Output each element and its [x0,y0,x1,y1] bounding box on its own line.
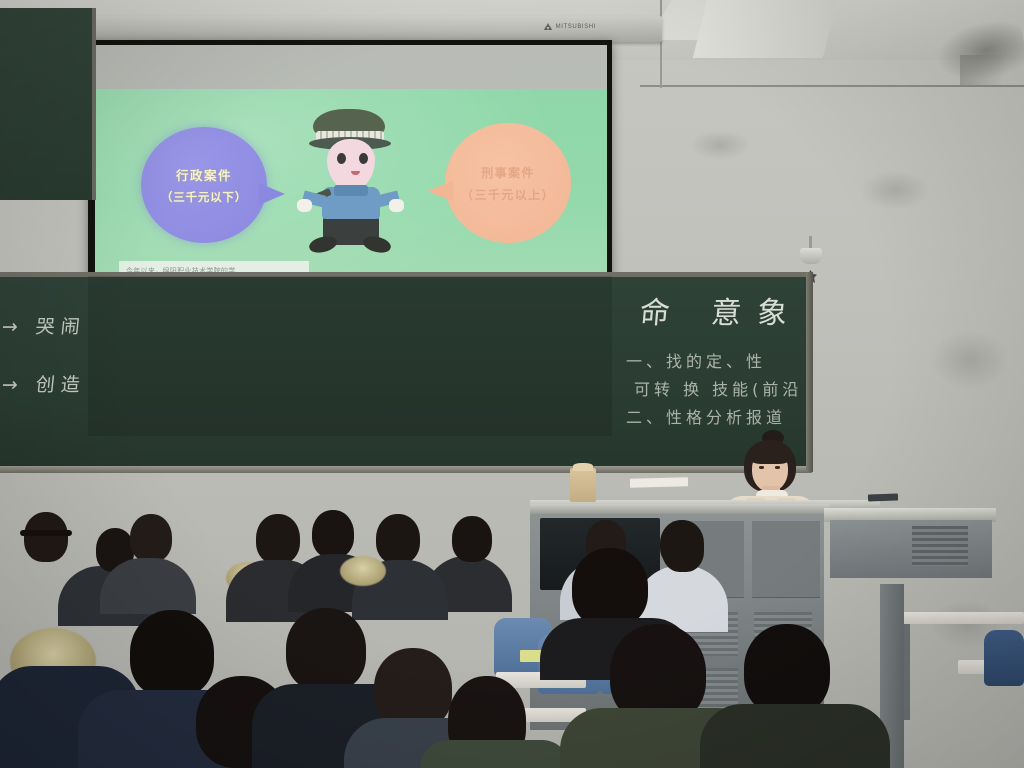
student-body-front [420,740,570,768]
student-head [660,520,704,568]
classroom-scene: 12 3 6 9 MITSUBISHI 行政案件 （三千元以下） [0,0,1024,768]
bubble-orange-line1: 刑事案件 [481,164,535,181]
wall-smudge [860,170,930,210]
wall-crack-secondary [960,55,1024,85]
student-head [256,514,300,564]
blackboard-frame-bottom [0,466,812,473]
empty-chair [984,630,1024,686]
chalk-left-line1: → 哭闹 [1,312,88,339]
mitsubishi-logo: MITSUBISHI [545,23,596,30]
bubble-orange-line2: （三千元以上） [461,186,555,203]
wall-smudge [690,130,750,160]
bubble-blue-line1: 行政案件 [176,165,232,184]
podium-panel [752,520,820,598]
student-head-front [286,608,366,692]
chalk-right-line2: 可转 换 技能(前沿 [634,376,802,400]
glasses-icon [20,530,72,536]
blackboard-shadow [88,276,612,436]
chalk-left-line2: → 创造 [1,370,88,397]
student-head [312,510,354,558]
bubble-tail-orange [427,181,453,201]
paper-bag[interactable] [570,468,596,502]
empty-desk [898,612,1024,624]
ceiling-beam [693,0,837,58]
student-head [24,512,68,562]
chalk-right-title: 命 意象 [638,288,805,332]
student-head [376,514,420,564]
chalk-right-line1: 一、找的定、性 [626,348,766,372]
fur-hood [340,556,386,586]
desk-object[interactable] [868,493,898,501]
wall-smudge [930,330,1010,390]
student-head [130,514,172,562]
student-head-front [744,624,830,716]
student-head [452,516,492,562]
side-desk-vent [912,526,968,566]
student-head-front [130,610,214,698]
podium-top-surface [530,504,830,514]
blackboard-left-panel [0,8,96,200]
student-head-front [572,548,648,628]
projector-screen-housing: MITSUBISHI [82,16,662,42]
mitsubishi-triangles-icon [545,23,553,30]
bubble-blue-line2: （三千元以下） [161,189,247,205]
wall-speaker-icon [800,248,822,264]
student-body-front [700,704,890,768]
chalk-right-line3: 二、性格分析报道 [626,404,786,428]
blackboard-note-card [630,477,688,488]
slide-bubble-administrative: 行政案件 （三千元以下） [141,127,267,243]
ceiling-conduit-vertical [660,0,662,88]
cartoon-police-officer-icon [301,107,401,262]
slide-bubble-criminal: 刑事案件 （三千元以上） [445,123,571,243]
mitsubishi-brand-text: MITSUBISHI [556,24,596,30]
bubble-tail-blue [259,183,285,205]
